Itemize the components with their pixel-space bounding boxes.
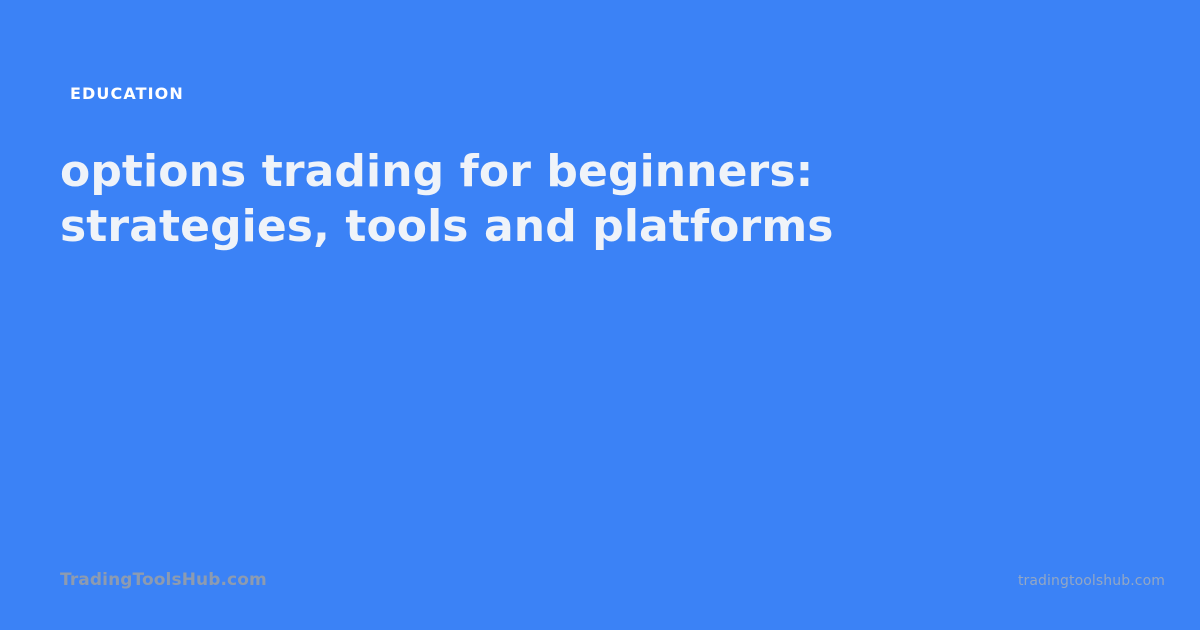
category-eyebrow-label: EDUCATION (70, 82, 184, 106)
footer-brand-name: TradingToolsHub.com (60, 568, 267, 592)
footer-domain-url: tradingtoolshub.com (1018, 570, 1165, 592)
page-title: options trading for beginners: strategie… (60, 144, 1060, 254)
social-share-card: EDUCATION options trading for beginners:… (0, 0, 1200, 630)
